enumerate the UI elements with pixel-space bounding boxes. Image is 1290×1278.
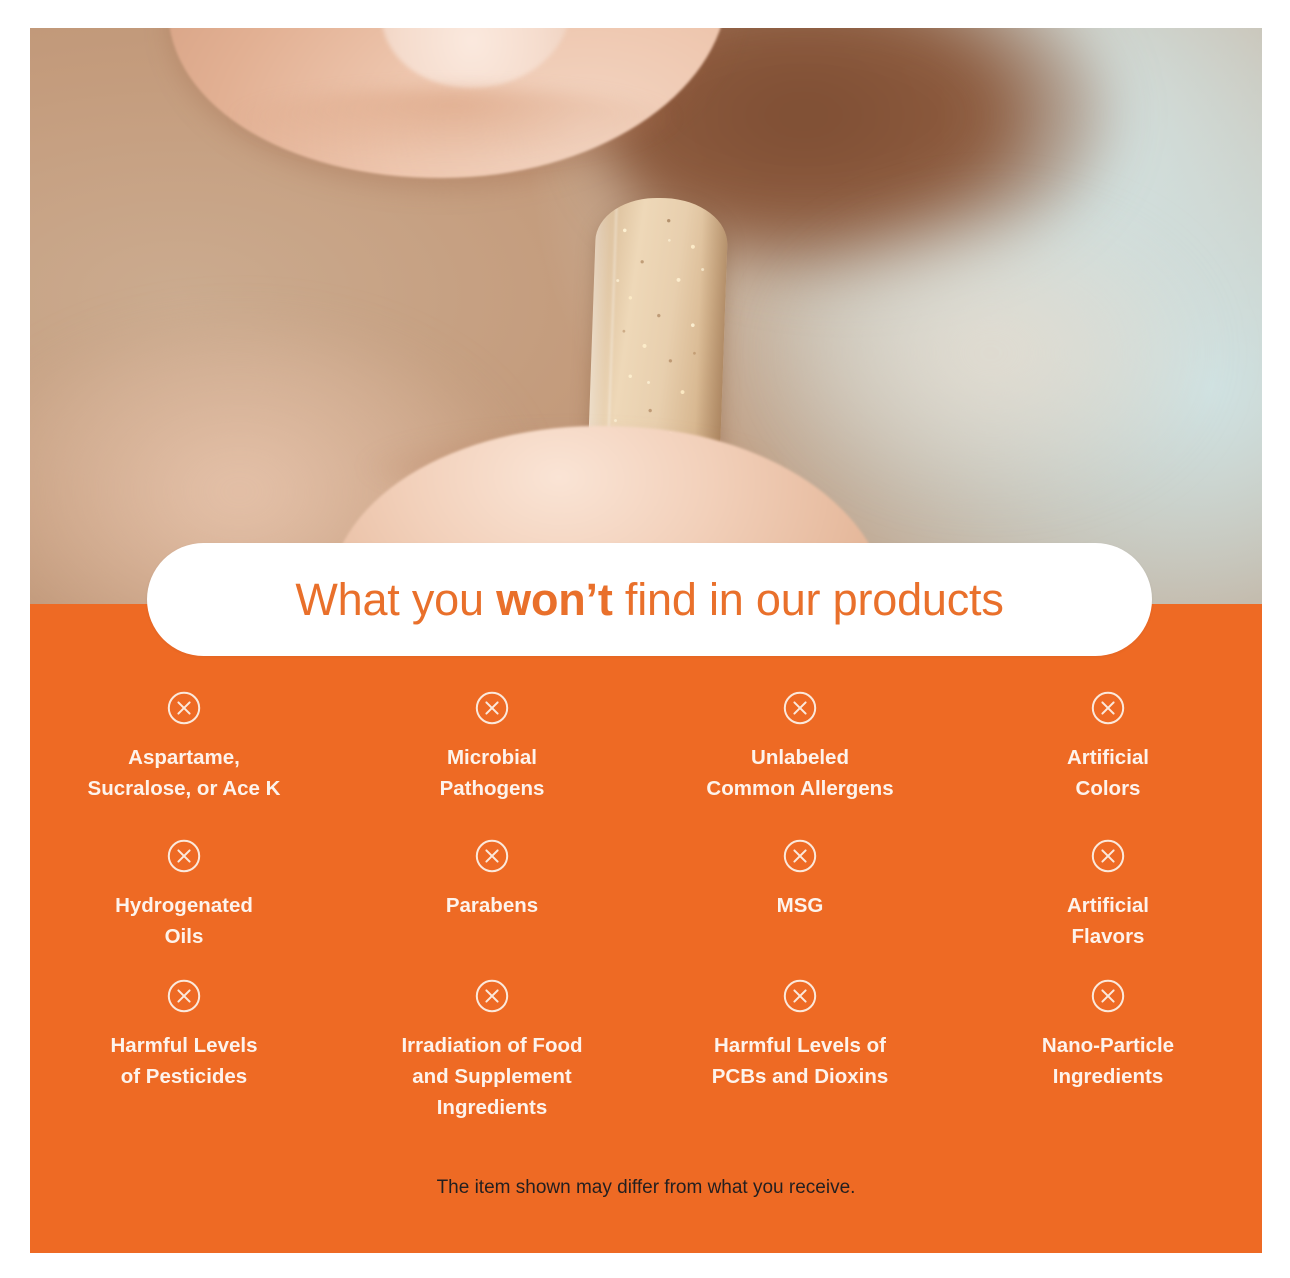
- grid-item-label: Parabens: [446, 890, 538, 921]
- label-line: and Supplement: [401, 1061, 582, 1092]
- grid-item: Harmful Levels of Pesticides: [30, 978, 338, 1128]
- grid-item: Unlabeled Common Allergens: [646, 690, 954, 838]
- grid-item: MSG: [646, 838, 954, 978]
- label-line: Microbial: [440, 742, 545, 773]
- grid-item: Irradiation of Food and Supplement Ingre…: [338, 978, 646, 1128]
- headline-pill: What you won’t find in our products: [147, 543, 1152, 656]
- title-emphasis: won’t: [496, 574, 612, 625]
- grid-item-label: Harmful Levels of Pesticides: [111, 1030, 258, 1092]
- page-title: What you won’t find in our products: [295, 574, 1003, 626]
- label-line: Sucralose, or Ace K: [88, 773, 281, 804]
- title-part-1: What you: [295, 574, 496, 625]
- photo-bokeh-light: [769, 202, 1213, 504]
- label-line: Unlabeled: [706, 742, 893, 773]
- label-line: Ingredients: [1042, 1061, 1174, 1092]
- grid-item-label: Nano-Particle Ingredients: [1042, 1030, 1174, 1092]
- label-line: of Pesticides: [111, 1061, 258, 1092]
- label-line: Flavors: [1067, 921, 1149, 952]
- grid-item: Artificial Flavors: [954, 838, 1262, 978]
- grid-item-label: Unlabeled Common Allergens: [706, 742, 893, 804]
- label-line: Aspartame,: [88, 742, 281, 773]
- label-line: Hydrogenated: [115, 890, 253, 921]
- circle-x-icon: [782, 838, 818, 874]
- label-line: Colors: [1067, 773, 1149, 804]
- circle-x-icon: [782, 978, 818, 1014]
- grid-item: Microbial Pathogens: [338, 690, 646, 838]
- circle-x-icon: [1090, 978, 1126, 1014]
- infographic-page: What you won’t find in our products Aspa…: [0, 0, 1290, 1278]
- label-line: Parabens: [446, 890, 538, 921]
- grid-item-label: Artificial Colors: [1067, 742, 1149, 804]
- label-line: MSG: [777, 890, 824, 921]
- grid-item-label: Aspartame, Sucralose, or Ace K: [88, 742, 281, 804]
- grid-item-label: MSG: [777, 890, 824, 921]
- circle-x-icon: [474, 978, 510, 1014]
- grid-item: Parabens: [338, 838, 646, 978]
- label-line: Irradiation of Food: [401, 1030, 582, 1061]
- grid-item: Hydrogenated Oils: [30, 838, 338, 978]
- circle-x-icon: [166, 838, 202, 874]
- excluded-ingredients-grid: Aspartame, Sucralose, or Ace K Microbial…: [30, 690, 1262, 1128]
- label-line: Nano-Particle: [1042, 1030, 1174, 1061]
- grid-item-label: Irradiation of Food and Supplement Ingre…: [401, 1030, 582, 1123]
- grid-item-label: Microbial Pathogens: [440, 742, 545, 804]
- label-line: Ingredients: [401, 1092, 582, 1123]
- circle-x-icon: [1090, 838, 1126, 874]
- grid-item: Harmful Levels of PCBs and Dioxins: [646, 978, 954, 1128]
- circle-x-icon: [474, 690, 510, 726]
- label-line: PCBs and Dioxins: [712, 1061, 889, 1092]
- grid-item: Aspartame, Sucralose, or Ace K: [30, 690, 338, 838]
- circle-x-icon: [166, 978, 202, 1014]
- label-line: Common Allergens: [706, 773, 893, 804]
- circle-x-icon: [1090, 690, 1126, 726]
- label-line: Pathogens: [440, 773, 545, 804]
- grid-item-label: Hydrogenated Oils: [115, 890, 253, 952]
- hero-photo: [30, 28, 1262, 608]
- circle-x-icon: [166, 690, 202, 726]
- grid-item: Artificial Colors: [954, 690, 1262, 838]
- label-line: Artificial: [1067, 742, 1149, 773]
- thumb-top-shading: [220, 88, 690, 168]
- grid-item: Nano-Particle Ingredients: [954, 978, 1262, 1128]
- label-line: Harmful Levels: [111, 1030, 258, 1061]
- circle-x-icon: [474, 838, 510, 874]
- label-line: Harmful Levels of: [712, 1030, 889, 1061]
- label-line: Artificial: [1067, 890, 1149, 921]
- disclaimer-note: The item shown may differ from what you …: [30, 1177, 1262, 1199]
- grid-item-label: Artificial Flavors: [1067, 890, 1149, 952]
- title-part-2: find in our products: [613, 574, 1004, 625]
- label-line: Oils: [115, 921, 253, 952]
- grid-item-label: Harmful Levels of PCBs and Dioxins: [712, 1030, 889, 1092]
- circle-x-icon: [782, 690, 818, 726]
